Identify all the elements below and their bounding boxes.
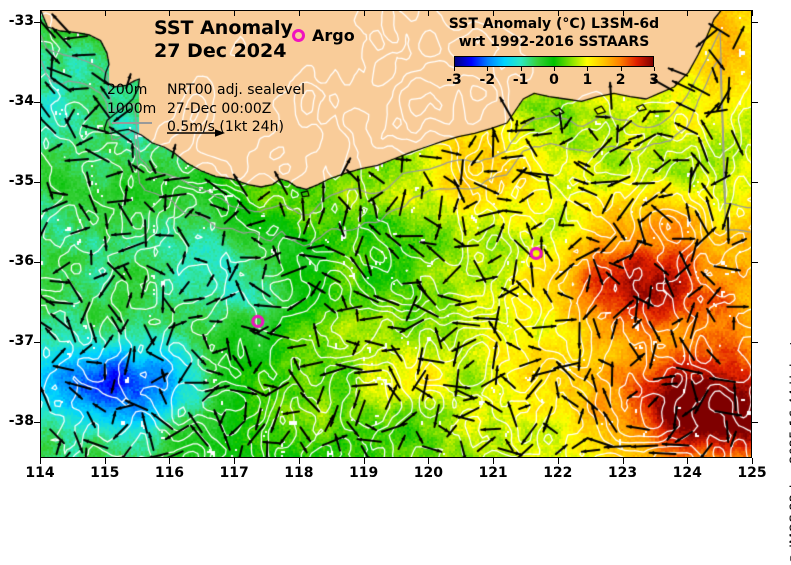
colorbar-title-line-1: SST Anomaly (°C) L3SM-6d	[440, 16, 668, 34]
x-axis-tick	[40, 458, 41, 464]
colorbar-tick	[554, 67, 555, 71]
timestamp-label: 27-Dec 00:00Z	[167, 100, 271, 119]
x-axis-tick-top	[623, 10, 624, 16]
colorbar-tick-label: 1	[582, 72, 592, 88]
x-axis-label: 120	[398, 465, 458, 481]
product-label: NRT00 adj. sealevel	[167, 81, 305, 100]
x-axis-tick	[364, 458, 365, 464]
x-axis-label: 121	[463, 465, 523, 481]
colorbar-tick-label: 2	[616, 72, 626, 88]
x-axis-tick	[299, 458, 300, 464]
y-axis-label: -38	[2, 413, 34, 429]
x-axis-label: 116	[139, 465, 199, 481]
y-axis-label: -36	[2, 253, 34, 269]
y-axis-tick-right	[752, 422, 758, 423]
colorbar-tick	[587, 67, 588, 71]
x-axis-tick-top	[299, 10, 300, 16]
x-axis-tick	[234, 458, 235, 464]
colorbar-tick	[521, 67, 522, 71]
argo-legend: Argo	[292, 26, 355, 45]
x-axis-label: 125	[722, 465, 782, 481]
x-axis-label: 124	[657, 465, 717, 481]
x-axis-label: 122	[528, 465, 588, 481]
x-axis-tick	[169, 458, 170, 464]
argo-marker-icon	[292, 29, 305, 42]
x-axis-tick-top	[687, 10, 688, 16]
colorbar-tick-label: -2	[480, 72, 496, 88]
x-axis-tick-top	[105, 10, 106, 16]
x-axis-tick	[623, 458, 624, 464]
colorbar-tick-label: 3	[649, 72, 659, 88]
x-axis-tick-top	[558, 10, 559, 16]
x-axis-label: 118	[269, 465, 329, 481]
x-axis-tick	[105, 458, 106, 464]
x-axis-label: 123	[593, 465, 653, 481]
y-axis-tick	[34, 342, 40, 343]
colorbar-tick	[621, 67, 622, 71]
colorbar-panel: SST Anomaly (°C) L3SM-6d wrt 1992-2016 S…	[440, 16, 668, 90]
depth-shallow-label: 200m	[107, 81, 167, 100]
colorbar-tick	[654, 67, 655, 71]
x-axis-tick	[687, 458, 688, 464]
x-axis-tick	[428, 458, 429, 464]
y-axis-tick	[34, 422, 40, 423]
colorbar-tick	[487, 67, 488, 71]
y-axis-label: -34	[2, 93, 34, 109]
x-axis-label: 117	[204, 465, 264, 481]
y-axis-tick-right	[752, 262, 758, 263]
colorbar-title: SST Anomaly (°C) L3SM-6d wrt 1992-2016 S…	[440, 16, 668, 52]
y-axis-tick-right	[752, 182, 758, 183]
x-axis-tick	[558, 458, 559, 464]
colorbar-tick-label: -1	[513, 72, 529, 88]
x-axis-label: 115	[75, 465, 135, 481]
colorbar-gradient	[454, 56, 654, 67]
velocity-scale-arrow-icon	[167, 127, 225, 139]
depth-deep-label: 1000m	[107, 100, 167, 119]
title-line-2: 27 Dec 2024	[154, 40, 293, 63]
x-axis-tick-top	[428, 10, 429, 16]
colorbar-tick-label: -3	[446, 72, 462, 88]
sst-anomaly-map-figure: SST Anomaly 27 Dec 2024 Argo 200m NRT00 …	[0, 0, 791, 492]
y-axis-tick-right	[752, 342, 758, 343]
x-axis-tick	[493, 458, 494, 464]
y-axis-tick	[34, 102, 40, 103]
y-axis-label: -37	[2, 333, 34, 349]
x-axis-tick-top	[752, 10, 753, 16]
colorbar-tick-labels: -3-2-10123	[454, 72, 654, 90]
argo-legend-label: Argo	[312, 26, 355, 45]
x-axis-tick-top	[234, 10, 235, 16]
x-axis-tick	[752, 458, 753, 464]
x-axis-tick-top	[364, 10, 365, 16]
x-axis-tick-top	[40, 10, 41, 16]
bathymetry-contour-sample	[112, 122, 152, 124]
y-axis-tick-right	[752, 102, 758, 103]
colorbar-tick	[454, 67, 455, 71]
x-axis-tick-top	[493, 10, 494, 16]
x-axis-label: 119	[334, 465, 394, 481]
figure-title: SST Anomaly 27 Dec 2024	[154, 17, 293, 63]
title-line-1: SST Anomaly	[154, 17, 293, 40]
y-axis-label: -35	[2, 173, 34, 189]
y-axis-label: -33	[2, 13, 34, 29]
colorbar-title-line-2: wrt 1992-2016 SSTAARS	[440, 34, 668, 52]
colorbar-tick-label: 0	[549, 72, 559, 88]
y-axis-tick-right	[752, 22, 758, 23]
x-axis-label: 114	[10, 465, 70, 481]
y-axis-tick	[34, 22, 40, 23]
y-axis-tick	[34, 262, 40, 263]
y-axis-tick	[34, 182, 40, 183]
x-axis-tick-top	[169, 10, 170, 16]
